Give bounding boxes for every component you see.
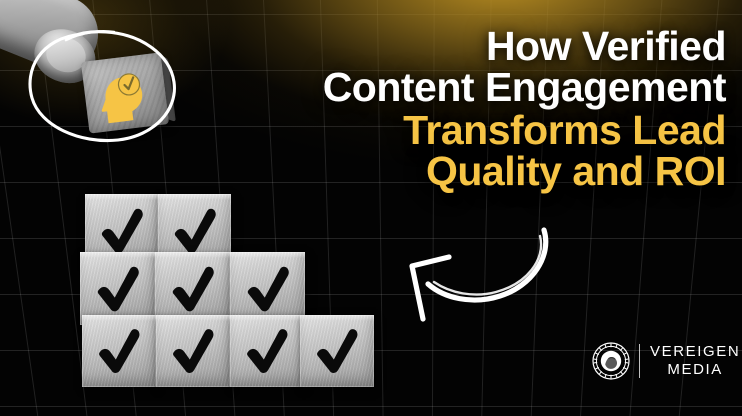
brand-divider <box>639 344 640 378</box>
greek-key-medallion-icon <box>592 342 630 380</box>
headline-line-2: Content Engagement <box>172 67 726 108</box>
brand-name-line-2: MEDIA <box>667 361 723 379</box>
brand-name-line-1: VEREIGEN <box>650 343 740 361</box>
banner-canvas: How Verified Content Engagement Transfor… <box>0 0 742 416</box>
brand-name: VEREIGEN MEDIA <box>650 343 740 378</box>
headline-line-3: Transforms Lead <box>172 110 726 151</box>
headline-line-4: Quality and ROI <box>172 151 726 192</box>
page-title: How Verified Content Engagement Transfor… <box>172 26 732 191</box>
headline-line-1: How Verified <box>172 26 726 67</box>
verified-chip-block <box>81 52 169 133</box>
head-with-verified-check-icon <box>97 70 149 125</box>
brand-logo: VEREIGEN MEDIA <box>592 338 738 384</box>
